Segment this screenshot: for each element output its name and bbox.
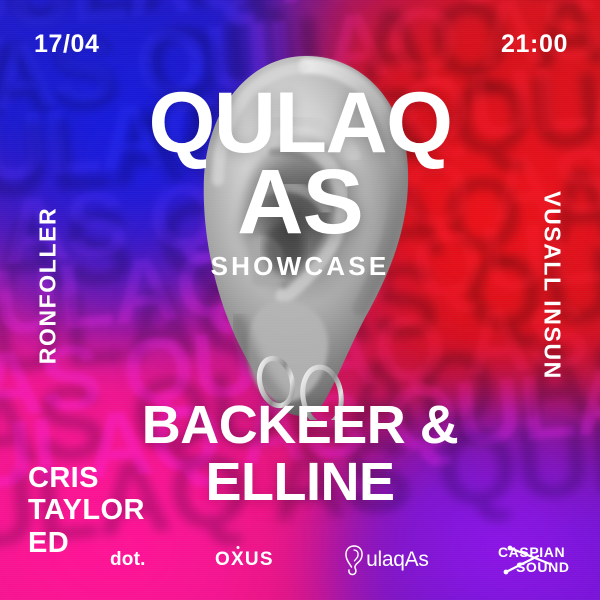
qulaqas-ear-icon <box>343 543 365 577</box>
qulaqas-wordmark: ulaqAs <box>366 548 428 572</box>
sponsor-caspian-sound-logo[interactable]: CASPIAN SOUND <box>498 542 580 578</box>
support-artist-2: TAYLOR <box>28 494 145 526</box>
left-artist-name: RONFOLLER <box>35 176 62 396</box>
support-artist-1: CRIS <box>28 462 145 494</box>
event-poster: QULAQ AS QULAQ AS QULAQ AS QULAQ AS QULA… <box>0 0 600 600</box>
sponsor-logo-row: dot. OXUS ulaqAs CASPIAN SOUND <box>110 538 580 582</box>
oxus-letters-us: US <box>245 549 274 571</box>
sponsor-qulaqas-logo[interactable]: ulaqAs <box>343 540 428 580</box>
right-artist-name: VUSALL INSUN <box>539 166 566 406</box>
event-date: 17/04 <box>34 30 100 59</box>
event-time: 21:00 <box>501 30 568 59</box>
ear-hero-image <box>198 52 414 420</box>
sponsor-dot-logo[interactable]: dot. <box>110 540 146 580</box>
sponsor-oxus-logo[interactable]: OXUS <box>215 540 274 580</box>
caspian-swoosh-icon <box>498 542 580 578</box>
headliner-line-1: BACKEER & <box>0 398 600 453</box>
oxus-letter-x: X <box>231 549 245 571</box>
oxus-letter-o: O <box>215 549 231 571</box>
